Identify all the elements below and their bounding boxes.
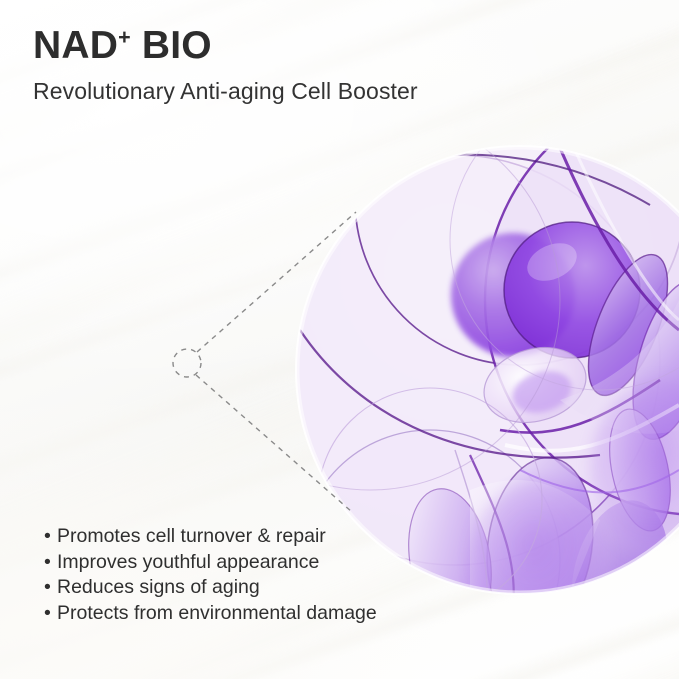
list-item-label: Improves youthful appearance [57,550,319,576]
list-item-label: Reduces signs of aging [57,575,260,601]
page-title: NAD+ BIO [33,26,418,67]
page-title-main: NAD [33,24,118,67]
product-infographic: NAD+ BIO Revolutionary Anti-aging Cell B… [0,0,679,679]
page-title-rest: BIO [131,24,212,67]
list-item: • Improves youthful appearance [44,550,377,576]
list-item-label: Promotes cell turnover & repair [57,524,326,550]
list-item: • Reduces signs of aging [44,575,377,601]
page-subtitle: Revolutionary Anti-aging Cell Booster [33,78,418,104]
list-item: • Promotes cell turnover & repair [44,524,377,550]
glow-bottom [470,480,610,640]
bullet-icon: • [44,575,57,601]
list-item: • Protects from environmental damage [44,601,377,627]
bullet-icon: • [44,524,57,550]
bullet-icon: • [44,601,57,627]
benefits-list: • Promotes cell turnover & repair • Impr… [44,524,377,626]
list-item-label: Protects from environmental damage [57,601,377,627]
header-block: NAD+ BIO Revolutionary Anti-aging Cell B… [33,26,418,104]
bullet-icon: • [44,550,57,576]
page-title-superscript: + [118,25,131,49]
